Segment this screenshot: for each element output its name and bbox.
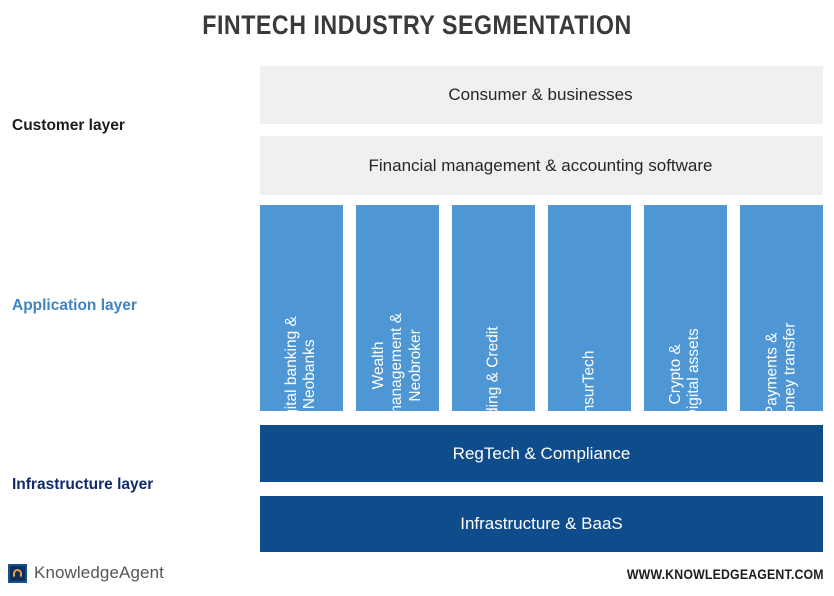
application-column-insurtech: InsurTech: [548, 205, 631, 411]
infrastructure-box-regtech-compliance-label: RegTech & Compliance: [453, 444, 631, 464]
customer-box-financial-management: Financial management & accounting softwa…: [260, 136, 823, 195]
application-column-crypto-digital-assets-label: Crypto & Digital assets: [667, 329, 704, 411]
page-title: FINTECH INDUSTRY SEGMENTATION: [58, 10, 775, 41]
application-column-payments-money-transfer-label: Payments & Money transfer: [763, 323, 800, 411]
customer-box-financial-management-label: Financial management & accounting softwa…: [369, 156, 715, 176]
application-column-lending-credit: Lending & Credit: [452, 205, 535, 411]
application-column-wealth-management: Wealth management & Neobroker: [356, 205, 439, 411]
brand-name: KnowledgeAgent: [34, 563, 164, 583]
application-column-crypto-digital-assets: Crypto & Digital assets: [644, 205, 727, 411]
logo-arch-glyph: [13, 569, 22, 578]
layer-label-infrastructure: Infrastructure layer: [12, 476, 153, 494]
infrastructure-box-infrastructure-baas-label: Infrastructure & BaaS: [460, 514, 623, 534]
application-column-insurtech-textwrap: InsurTech: [548, 375, 631, 393]
footer-branding: KnowledgeAgent: [8, 563, 164, 583]
application-column-crypto-digital-assets-textwrap: Crypto & Digital assets: [644, 356, 727, 393]
application-column-payments-money-transfer: Payments & Money transfer: [740, 205, 823, 411]
application-column-wealth-management-label: Wealth management & Neobroker: [370, 313, 425, 411]
application-column-digital-banking-label: Digital banking & Neobanks: [283, 317, 320, 411]
application-column-digital-banking: Digital banking & Neobanks: [260, 205, 343, 411]
knowledgeagent-logo-icon: [8, 564, 27, 583]
layer-label-application: Application layer: [12, 297, 137, 315]
infrastructure-box-regtech-compliance: RegTech & Compliance: [260, 425, 823, 482]
application-layer-row: Digital banking & Neobanks Wealth manage…: [260, 205, 834, 411]
application-column-insurtech-label: InsurTech: [580, 350, 598, 411]
infographic-canvas: FINTECH INDUSTRY SEGMENTATION Customer l…: [0, 0, 834, 596]
customer-box-consumer-businesses-label: Consumer & businesses: [448, 85, 634, 105]
layer-label-customer: Customer layer: [12, 117, 125, 135]
application-column-wealth-management-textwrap: Wealth management & Neobroker: [356, 338, 439, 393]
application-column-lending-credit-textwrap: Lending & Credit: [452, 375, 535, 393]
footer-website-url: WWW.KNOWLEDGEAGENT.COM: [627, 566, 824, 582]
customer-box-consumer-businesses: Consumer & businesses: [260, 66, 823, 124]
infrastructure-box-infrastructure-baas: Infrastructure & BaaS: [260, 496, 823, 552]
application-column-digital-banking-textwrap: Digital banking & Neobanks: [260, 356, 343, 393]
application-column-lending-credit-label: Lending & Credit: [484, 326, 502, 411]
application-column-payments-money-transfer-textwrap: Payments & Money transfer: [740, 356, 823, 393]
